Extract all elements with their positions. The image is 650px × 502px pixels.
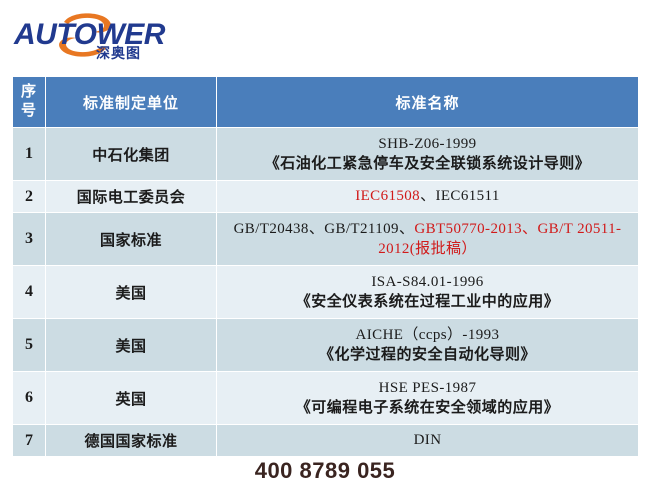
row-name-line2: 《可编程电子系统在安全领域的应用》 (219, 398, 636, 418)
row-org: 英国 (46, 372, 217, 425)
row-number: 7 (13, 425, 46, 457)
column-header-no: 序 号 (13, 77, 46, 128)
row-name: SHB-Z06-1999 《石油化工紧急停车及安全联锁系统设计导则》 (217, 128, 639, 181)
table-header: 序 号 标准制定单位 标准名称 (13, 77, 639, 128)
row-org: 德国国家标准 (46, 425, 217, 457)
row-org: 中石化集团 (46, 128, 217, 181)
row-number: 3 (13, 213, 46, 266)
standards-table: 序 号 标准制定单位 标准名称 1 中石化集团 SHB-Z06-1999 《石油… (12, 76, 639, 457)
row-name-line1: SHB-Z06-1999 (219, 134, 636, 154)
row-name-line1: HSE PES-1987 (219, 378, 636, 398)
row-number: 2 (13, 181, 46, 213)
row-name: DIN (217, 425, 639, 457)
row-name-line2: 《石油化工紧急停车及安全联锁系统设计导则》 (219, 154, 636, 174)
company-logo: AUTOWER 深奥图 (14, 8, 194, 64)
row-name: IEC61508、IEC61511 (217, 181, 639, 213)
row-name-line1: ISA-S84.01-1996 (219, 272, 636, 292)
row-name-highlight: IEC61508 (355, 188, 420, 204)
table-row: 5 美国 AICHE（ccps）-1993 《化学过程的安全自动化导则》 (13, 319, 639, 372)
row-name: GB/T20438、GB/T21109、GBT50770-2013、GB/T 2… (217, 213, 639, 266)
column-header-no-line2: 号 (15, 102, 43, 121)
row-name: AICHE（ccps）-1993 《化学过程的安全自动化导则》 (217, 319, 639, 372)
row-org: 美国 (46, 319, 217, 372)
table-row: 1 中石化集团 SHB-Z06-1999 《石油化工紧急停车及安全联锁系统设计导… (13, 128, 639, 181)
row-name-line2: 《安全仪表系统在过程工业中的应用》 (219, 292, 636, 312)
row-name-plain: GB/T20438、GB/T21109、 (234, 221, 415, 237)
table-header-row: 序 号 标准制定单位 标准名称 (13, 77, 639, 128)
logo-chinese-name: 深奥图 (96, 46, 141, 60)
column-header-org: 标准制定单位 (46, 77, 217, 128)
table-row: 6 英国 HSE PES-1987 《可编程电子系统在安全领域的应用》 (13, 372, 639, 425)
row-number: 6 (13, 372, 46, 425)
table-row: 2 国际电工委员会 IEC61508、IEC61511 (13, 181, 639, 213)
hotline-number: 400 8789 055 (0, 458, 650, 484)
row-name-line1: DIN (414, 432, 442, 448)
row-name: HSE PES-1987 《可编程电子系统在安全领域的应用》 (217, 372, 639, 425)
row-number: 4 (13, 266, 46, 319)
table-body: 1 中石化集团 SHB-Z06-1999 《石油化工紧急停车及安全联锁系统设计导… (13, 128, 639, 457)
row-name: ISA-S84.01-1996 《安全仪表系统在过程工业中的应用》 (217, 266, 639, 319)
row-number: 5 (13, 319, 46, 372)
row-name-plain: 、IEC61511 (420, 188, 500, 204)
row-number: 1 (13, 128, 46, 181)
logo-wordmark: AUTOWER (14, 20, 165, 50)
row-name-line1: AICHE（ccps）-1993 (219, 325, 636, 345)
slide-page: AUTOWER 深奥图 序 号 标准制定单位 标准名称 1 中石化集团 SHB-… (0, 0, 650, 502)
row-name-line2: 《化学过程的安全自动化导则》 (219, 345, 636, 365)
row-name-highlight: GBT50770-2013、GB/T 20511-2012(报批稿） (378, 221, 621, 257)
column-header-name: 标准名称 (217, 77, 639, 128)
row-org: 美国 (46, 266, 217, 319)
row-org: 国际电工委员会 (46, 181, 217, 213)
table-row: 4 美国 ISA-S84.01-1996 《安全仪表系统在过程工业中的应用》 (13, 266, 639, 319)
table-row: 7 德国国家标准 DIN (13, 425, 639, 457)
row-org: 国家标准 (46, 213, 217, 266)
column-header-no-line1: 序 (15, 83, 43, 102)
table-row: 3 国家标准 GB/T20438、GB/T21109、GBT50770-2013… (13, 213, 639, 266)
